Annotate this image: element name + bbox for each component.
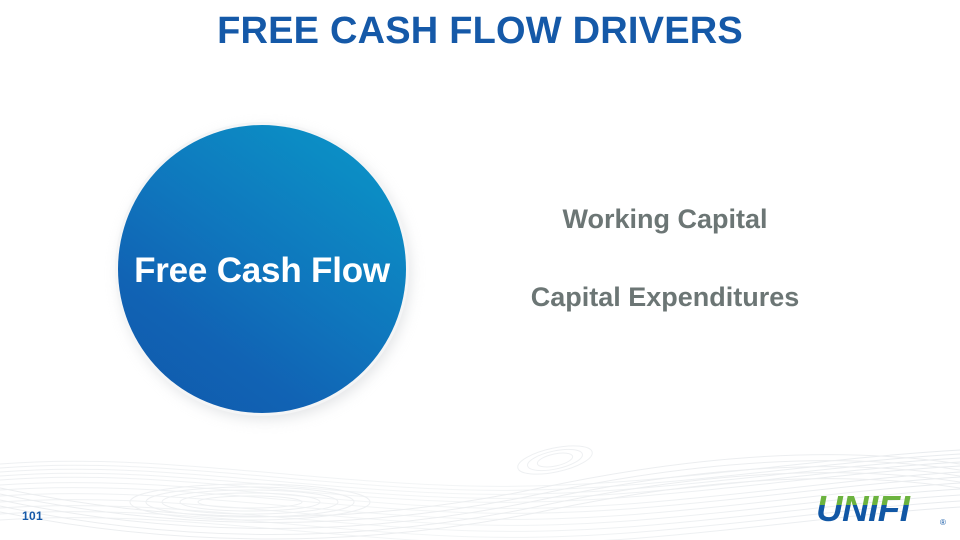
slide-canvas: FREE CASH FLOW DRIVERS Free Cash Flow Wo… bbox=[0, 0, 960, 540]
circle-fill: Free Cash Flow bbox=[118, 125, 406, 413]
registered-trademark-icon: ® bbox=[940, 518, 946, 527]
page-number: 101 bbox=[22, 509, 43, 523]
page-title: FREE CASH FLOW DRIVERS bbox=[0, 8, 960, 54]
free-cash-flow-circle: Free Cash Flow bbox=[112, 119, 414, 421]
drivers-list: Working Capital Capital Expenditures bbox=[440, 200, 890, 316]
circle-label: Free Cash Flow bbox=[134, 251, 390, 291]
unifi-logo: UNIFI ® bbox=[812, 487, 950, 533]
driver-item-working-capital: Working Capital bbox=[440, 200, 890, 238]
driver-item-capital-expenditures: Capital Expenditures bbox=[440, 278, 890, 316]
